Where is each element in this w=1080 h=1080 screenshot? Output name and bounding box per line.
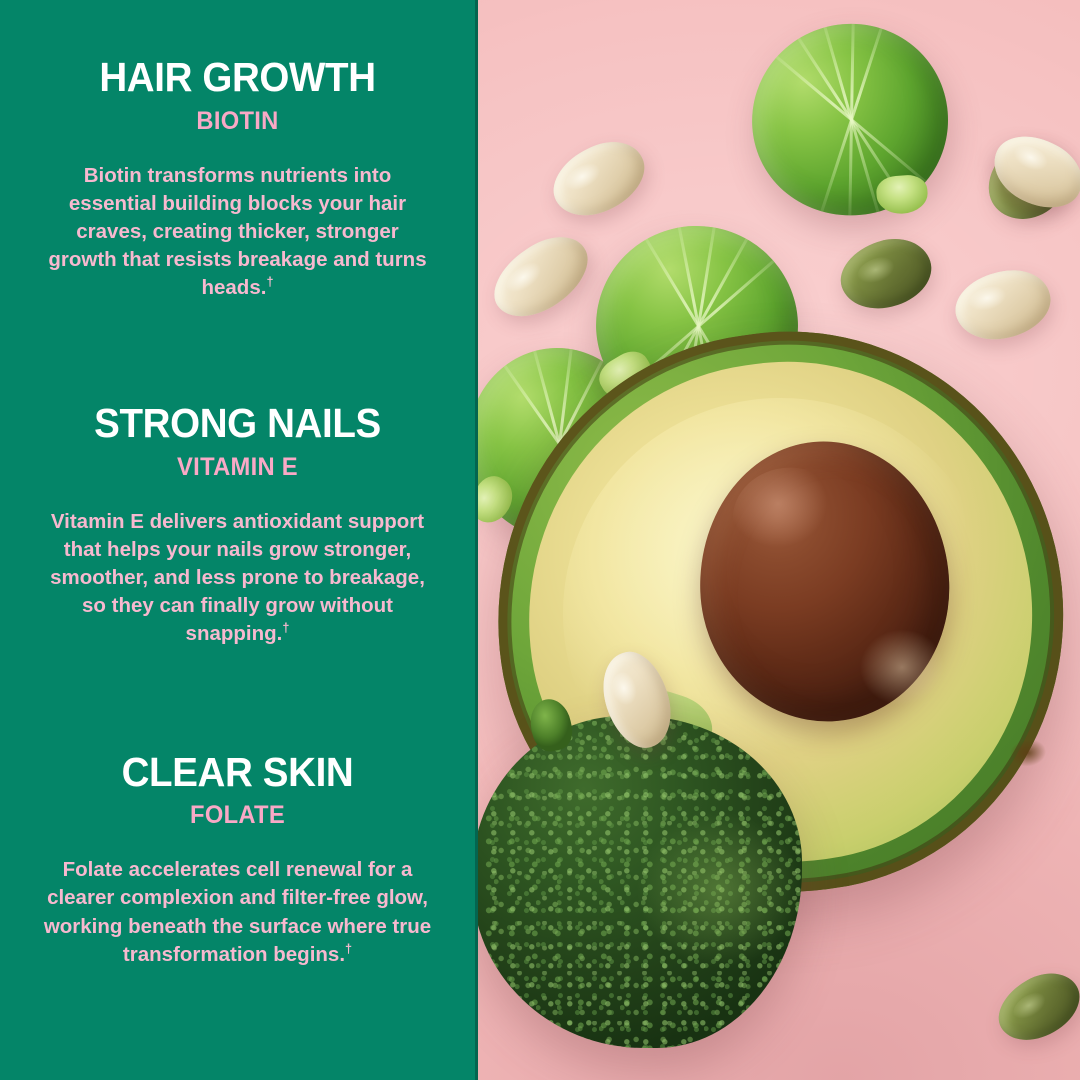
footnote-marker: † [345, 941, 352, 956]
broccoli-head [472, 716, 802, 1048]
benefit-headline: CLEAR SKIN [46, 751, 429, 794]
benefits-text-panel: HAIR GROWTH BIOTIN Biotin transforms nut… [0, 0, 475, 1080]
benefit-block-strong-nails: STRONG NAILS VITAMIN E Vitamin E deliver… [34, 402, 441, 648]
benefit-block-hair-growth: HAIR GROWTH BIOTIN Biotin transforms nut… [34, 56, 441, 302]
pumpkin-seed-icon [987, 960, 1080, 1053]
benefit-description-text: Biotin transforms nutrients into essenti… [48, 164, 426, 299]
sunflower-seed-icon [481, 222, 602, 332]
benefit-description-text: Vitamin E delivers antioxidant support t… [50, 510, 425, 645]
footnote-marker: † [282, 621, 289, 636]
broccoli-floret-icon [472, 716, 802, 1048]
benefit-block-clear-skin: CLEAR SKIN FOLATE Folate accelerates cel… [34, 751, 441, 969]
brussels-sprout-icon [729, 1, 970, 240]
panel-divider [475, 0, 478, 1080]
sprout-veins [729, 1, 970, 240]
benefit-description: Biotin transforms nutrients into essenti… [34, 162, 441, 302]
benefit-description: Folate accelerates cell renewal for a cl… [34, 856, 441, 968]
footnote-marker: † [266, 274, 273, 289]
sunflower-seed-icon [542, 128, 657, 230]
benefit-ingredient: VITAMIN E [44, 454, 431, 480]
benefit-headline: STRONG NAILS [46, 402, 429, 445]
benefit-ingredient: FOLATE [44, 802, 431, 828]
benefit-description: Vitamin E delivers antioxidant support t… [34, 508, 441, 648]
benefit-description-text: Folate accelerates cell renewal for a cl… [44, 858, 431, 965]
supplement-benefits-poster: HAIR GROWTH BIOTIN Biotin transforms nut… [0, 0, 1080, 1080]
benefit-headline: HAIR GROWTH [46, 56, 429, 99]
benefit-ingredient: BIOTIN [44, 108, 431, 134]
pumpkin-seed-icon [832, 228, 940, 319]
